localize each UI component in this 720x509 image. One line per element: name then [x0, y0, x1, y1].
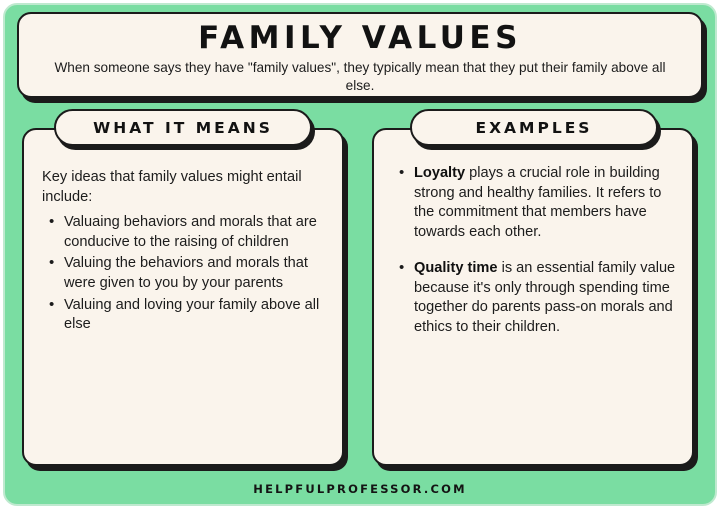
- title-banner: FAMILY VALUES When someone says they hav…: [17, 12, 703, 98]
- list-item: Quality time is an essential family valu…: [412, 259, 678, 337]
- list-item: Loyalty plays a crucial role in building…: [412, 164, 678, 242]
- list-item: Valuaing behaviors and morals that are c…: [62, 213, 328, 252]
- section-header-what-it-means: WHAT IT MEANS: [54, 109, 312, 146]
- bullet-lead-term: Quality time: [414, 260, 498, 276]
- panel-what-it-means: Key ideas that family values might entai…: [22, 128, 344, 466]
- bullet-list-examples: Loyalty plays a crucial role in building…: [390, 164, 678, 337]
- list-item: Valuing and loving your family above all…: [62, 296, 328, 335]
- panel-intro-text: Key ideas that family values might entai…: [42, 168, 328, 207]
- footer-source: HELPFULPROFESSOR.COM: [0, 482, 720, 496]
- bullet-text: Valuing and loving your family above all…: [64, 297, 319, 333]
- section-header-label: EXAMPLES: [476, 119, 593, 137]
- bullet-text: Valuing the behaviors and morals that we…: [64, 255, 308, 291]
- page-subtitle: When someone says they have "family valu…: [40, 59, 680, 95]
- page-title: FAMILY VALUES: [198, 22, 522, 55]
- infographic-canvas: FAMILY VALUES When someone says they hav…: [0, 0, 720, 509]
- section-header-label: WHAT IT MEANS: [93, 119, 273, 137]
- panel-examples: Loyalty plays a crucial role in building…: [372, 128, 694, 466]
- section-header-examples: EXAMPLES: [410, 109, 658, 146]
- bullet-lead-term: Loyalty: [414, 165, 465, 181]
- list-item: Valuing the behaviors and morals that we…: [62, 254, 328, 293]
- bullet-list-what-it-means: Valuaing behaviors and morals that are c…: [40, 213, 328, 334]
- bullet-text: Valuaing behaviors and morals that are c…: [64, 214, 317, 250]
